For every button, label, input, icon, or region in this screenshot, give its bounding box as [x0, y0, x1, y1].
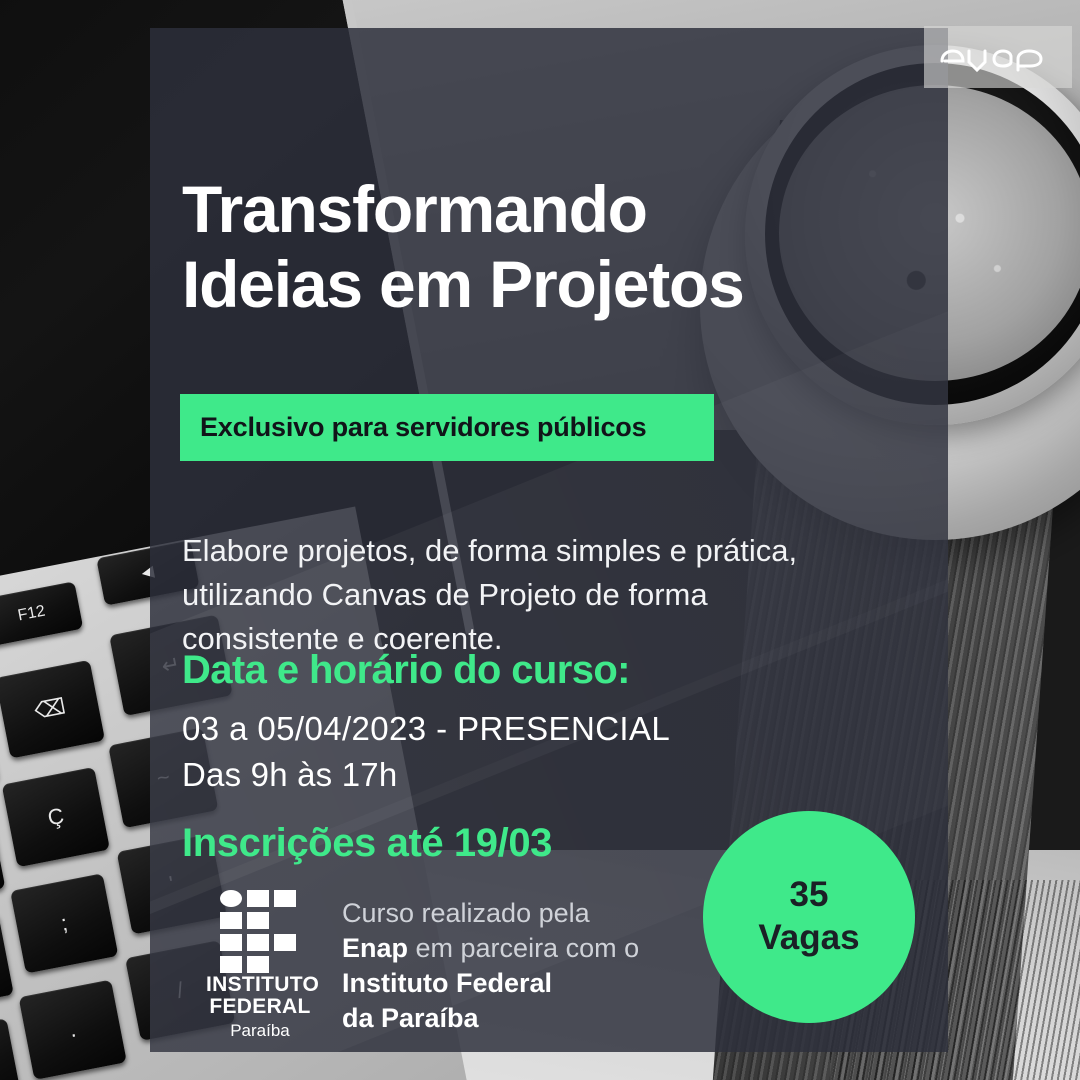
page-title: TransformandoIdeias em Projetos: [182, 172, 882, 322]
if-cell: [274, 890, 296, 907]
enap-wordmark-icon: [938, 40, 1058, 74]
vagas-label: Vagas: [758, 917, 859, 960]
credit-enap: Enap: [342, 933, 408, 963]
credit-line-4: da Paraíba: [342, 1001, 639, 1036]
schedule-hours: Das 9h às 17h: [182, 756, 397, 794]
credit-partner-phrase: em parceira com o: [408, 933, 639, 963]
key-comma: ,: [0, 1018, 22, 1080]
title-line-1: Transformando: [182, 172, 647, 246]
key-bracket2: Ç: [2, 767, 110, 867]
registration-deadline: Inscrições até 19/03: [182, 821, 552, 866]
promotional-poster: F10 F11 F12 ◀ ^ * ⌫ ↵ O P Ç ~ O L ; ' K …: [0, 0, 1080, 1080]
key-semicolon: ;: [10, 873, 118, 973]
key-backspace: ⌫: [0, 660, 105, 759]
if-cell-empty: [274, 956, 296, 973]
if-cell: [220, 956, 242, 973]
if-cell: [247, 912, 269, 929]
status-badge: Exclusivo para servidores públicos: [180, 394, 714, 461]
description-text: Elabore projetos, de forma simples e prá…: [182, 529, 842, 661]
if-logo-name-line1: INSTITUTO: [206, 973, 319, 996]
footer: INSTITUTOFEDERAL Paraíba Curso realizado…: [206, 890, 639, 1041]
schedule-heading: Data e horário do curso:: [182, 648, 630, 693]
if-logo-name: INSTITUTOFEDERAL: [206, 974, 314, 1018]
key-p: P: [0, 806, 5, 906]
if-logo-name-line2: FEDERAL: [209, 995, 310, 1018]
enap-logo[interactable]: [924, 26, 1072, 88]
if-cell: [247, 934, 269, 951]
key-period: .: [19, 980, 127, 1080]
partnership-credit: Curso realizado pela Enap em parceira co…: [342, 890, 639, 1036]
credit-line-3: Instituto Federal: [342, 966, 639, 1001]
vagas-count: 35: [790, 874, 829, 917]
instituto-federal-logo: INSTITUTOFEDERAL Paraíba: [206, 890, 314, 1041]
if-cell: [220, 890, 242, 907]
if-cell: [220, 912, 242, 929]
schedule-dates: 03 a 05/04/2023 - PRESENCIAL: [182, 710, 670, 748]
if-logo-grid-icon: [220, 890, 300, 968]
if-cell: [247, 956, 269, 973]
if-cell: [247, 890, 269, 907]
credit-line-2: Enap em parceira com o: [342, 931, 639, 966]
vagas-badge: 35 Vagas: [703, 811, 915, 1023]
if-cell: [220, 934, 242, 951]
credit-line-1: Curso realizado pela: [342, 896, 639, 931]
if-cell: [274, 934, 296, 951]
title-line-2: Ideias em Projetos: [182, 247, 744, 321]
if-cell-empty: [274, 912, 296, 929]
if-logo-state: Paraíba: [206, 1021, 314, 1041]
key-l: L: [0, 912, 14, 1012]
